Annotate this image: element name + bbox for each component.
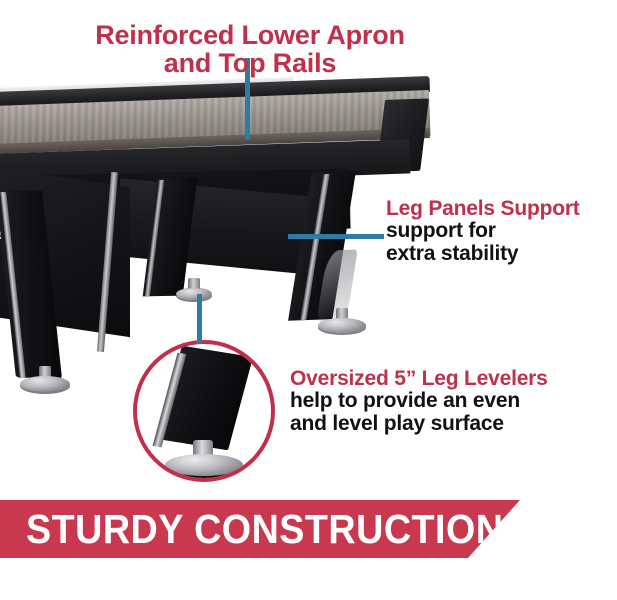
leg-leveler-foot-right <box>318 308 366 332</box>
magnified-leveler-foot <box>165 440 243 474</box>
magnified-leveler-disc <box>165 454 243 476</box>
leveler-disc <box>176 288 212 300</box>
leader-line-leg-panels <box>288 234 384 239</box>
bottom-banner: STURDY CONSTRUCTION <box>0 500 520 558</box>
callout-leg-levelers-title: Oversized 5” Leg Levelers <box>290 368 617 389</box>
callout-leg-panels: Leg Panels Support support for extra sta… <box>386 198 617 265</box>
callout-top-rails-title-line2: and Top Rails <box>55 50 445 78</box>
callout-top-rails: Reinforced Lower Apron and Top Rails <box>55 22 445 77</box>
callout-top-rails-title-line1: Reinforced Lower Apron <box>55 22 445 50</box>
callout-leg-panels-body-line2: extra stability <box>386 243 617 265</box>
bottom-banner-text: STURDY CONSTRUCTION <box>26 509 503 550</box>
infographic-canvas: RTS. <box>0 0 617 600</box>
callout-leg-panels-body-line1: support for <box>386 220 617 242</box>
callout-leg-levelers: Oversized 5” Leg Levelers help to provid… <box>290 368 617 435</box>
callout-leg-levelers-body-line2: and level play surface <box>290 413 617 435</box>
leader-line-leg-levelers <box>197 294 202 344</box>
leg-leveler-foot-left <box>20 366 70 392</box>
leg-leveler-magnifier-circle <box>133 340 275 482</box>
leg-leveler-foot-middle <box>176 278 212 298</box>
leveler-disc <box>20 376 70 392</box>
callout-leg-levelers-body-line1: help to provide an even <box>290 390 617 412</box>
leveler-disc <box>318 318 366 333</box>
callout-leg-panels-title: Leg Panels Support <box>386 198 617 219</box>
